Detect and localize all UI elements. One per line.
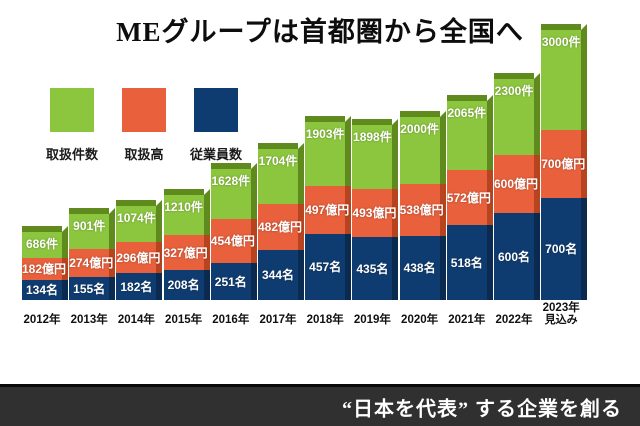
bar-value-label: 134名: [22, 284, 62, 296]
bar-value-label: 454億円: [211, 235, 251, 247]
bar-value-label: 2065件: [447, 107, 487, 119]
bar-3d-side-face: [62, 232, 68, 258]
bar-3d-top-face: [211, 163, 251, 169]
bar-3d-side-face: [345, 122, 351, 186]
bar-value-label: 182名: [116, 281, 156, 293]
bar-value-label: 518名: [447, 257, 487, 269]
stacked-bar[interactable]: 1898件493億円435名: [352, 125, 392, 300]
bar-value-label: 600名: [494, 251, 534, 263]
bar-3d-side-face: [251, 169, 257, 219]
bar-3d-side-face: [204, 195, 210, 235]
stacked-bar[interactable]: 1704件482億円344名: [258, 149, 298, 300]
segment-juugyouinsuu[interactable]: 134名: [22, 280, 62, 300]
segment-torihikidaka[interactable]: 182億円: [22, 258, 62, 280]
bar-3d-side-face: [109, 277, 115, 300]
bar-value-label: 700名: [541, 243, 581, 255]
bar-value-label: 497億円: [305, 204, 345, 216]
segment-torihikidaka[interactable]: 296億円: [116, 242, 156, 273]
bar-group: 3000件700億円700名2023年見込み: [541, 24, 587, 326]
x-axis-label: 2013年: [71, 314, 108, 326]
segment-juugyouinsuu[interactable]: 438名: [400, 236, 440, 300]
bar-3d-side-face: [534, 79, 540, 155]
bar-group: 2000件538億円438名2020年: [400, 111, 446, 326]
bar-3d-top-face: [116, 200, 156, 206]
segment-torihikidaka[interactable]: 327億円: [164, 235, 204, 270]
bar-3d-top-face: [352, 119, 392, 125]
x-axis-label: 2014年: [118, 314, 155, 326]
bar-group: 1898件493億円435名2019年: [352, 119, 398, 326]
bar-3d-top-face: [541, 24, 581, 30]
segment-torihikai-kensuu[interactable]: 3000件: [541, 30, 581, 130]
bar-3d-top-face: [22, 226, 62, 232]
bar-3d-corner: [251, 163, 257, 169]
bar-value-label: 1210件: [164, 201, 204, 213]
segment-torihikai-kensuu[interactable]: 901件: [69, 214, 109, 249]
bar-3d-side-face: [392, 125, 398, 189]
segment-juugyouinsuu[interactable]: 208名: [164, 270, 204, 300]
bar-3d-corner: [62, 226, 68, 232]
stacked-bar[interactable]: 686件182億円134名: [22, 232, 62, 300]
bar-3d-side-face: [581, 30, 587, 130]
bar-3d-corner: [156, 200, 162, 206]
bar-value-label: 2000件: [400, 123, 440, 135]
x-axis-label: 2015年: [165, 314, 202, 326]
bar-3d-side-face: [487, 225, 493, 300]
stacked-bar-chart: 686件182億円134名2012年901件274億円155名2013年1074…: [0, 0, 640, 352]
stacked-bar[interactable]: 1074件296億円182名: [116, 206, 156, 300]
bar-3d-side-face: [487, 101, 493, 170]
x-axis-label: 2019年: [354, 314, 391, 326]
footer-banner-text: “日本を代表” する企業を創る: [342, 392, 622, 421]
bar-value-label: 1898件: [352, 131, 392, 143]
segment-torihikai-kensuu[interactable]: 1903件: [305, 122, 345, 186]
bar-3d-side-face: [298, 149, 304, 204]
bar-3d-corner: [440, 111, 446, 117]
bar-value-label: 438名: [400, 262, 440, 274]
segment-juugyouinsuu[interactable]: 600名: [494, 213, 534, 300]
bar-3d-side-face: [204, 270, 210, 300]
bar-3d-top-face: [69, 208, 109, 214]
bar-3d-side-face: [581, 198, 587, 300]
stacked-bar[interactable]: 2300件600億円600名: [494, 79, 534, 300]
segment-torihikai-kensuu[interactable]: 1074件: [116, 206, 156, 242]
x-axis-label: 2021年: [448, 314, 485, 326]
x-axis-sublabel: 見込み: [543, 314, 580, 326]
segment-torihikidaka[interactable]: 600億円: [494, 155, 534, 213]
segment-torihikidaka[interactable]: 497億円: [305, 186, 345, 234]
bar-value-label: 155名: [69, 283, 109, 295]
x-axis-label: 2018年: [307, 314, 344, 326]
x-axis-label: 2012年: [23, 314, 60, 326]
segment-juugyouinsuu[interactable]: 182名: [116, 273, 156, 300]
bar-3d-corner: [534, 73, 540, 79]
bar-value-label: 1074件: [116, 212, 156, 224]
bar-group: 2300件600億円600名2022年: [494, 73, 540, 326]
segment-torihikidaka[interactable]: 700億円: [541, 130, 581, 198]
bar-value-label: 327億円: [164, 247, 204, 259]
segment-juugyouinsuu[interactable]: 700名: [541, 198, 581, 300]
bar-value-label: 208名: [164, 279, 204, 291]
segment-juugyouinsuu[interactable]: 344名: [258, 250, 298, 300]
bar-group: 686件182億円134名2012年: [22, 226, 68, 326]
segment-juugyouinsuu[interactable]: 457名: [305, 234, 345, 300]
segment-torihikidaka[interactable]: 493億円: [352, 189, 392, 237]
stacked-bar[interactable]: 1628件454億円251名: [211, 169, 251, 300]
stacked-bar[interactable]: 2000件538億円438名: [400, 117, 440, 300]
stacked-bar[interactable]: 2065件572億円518名: [447, 101, 487, 300]
segment-juugyouinsuu[interactable]: 435名: [352, 237, 392, 300]
bar-value-label: 251名: [211, 276, 251, 288]
bar-3d-side-face: [251, 263, 257, 300]
x-axis-label: 2020年: [401, 314, 438, 326]
bar-value-label: 182億円: [22, 263, 62, 275]
bar-group: 1628件454億円251名2016年: [211, 163, 257, 326]
bar-group: 1074件296億円182名2014年: [116, 200, 162, 326]
bar-3d-side-face: [156, 206, 162, 242]
bar-value-label: 482億円: [258, 221, 298, 233]
bar-value-label: 538億円: [400, 204, 440, 216]
bar-3d-top-face: [447, 95, 487, 101]
segment-torihikai-kensuu[interactable]: 1704件: [258, 149, 298, 204]
bar-3d-side-face: [298, 250, 304, 300]
bar-3d-top-face: [400, 111, 440, 117]
bar-3d-top-face: [305, 116, 345, 122]
bar-3d-top-face: [258, 143, 298, 149]
segment-torihikidaka[interactable]: 572億円: [447, 170, 487, 225]
bar-value-label: 493億円: [352, 207, 392, 219]
bar-3d-side-face: [440, 236, 446, 300]
segment-torihikai-kensuu[interactable]: 1898件: [352, 125, 392, 189]
bar-value-label: 1903件: [305, 128, 345, 140]
bar-3d-corner: [392, 119, 398, 125]
bar-3d-top-face: [164, 189, 204, 195]
bar-value-label: 1704件: [258, 155, 298, 167]
bar-3d-side-face: [345, 234, 351, 300]
bar-3d-side-face: [156, 273, 162, 300]
segment-torihikai-kensuu[interactable]: 1210件: [164, 195, 204, 235]
stacked-bar[interactable]: 3000件700億円700名: [541, 30, 581, 300]
slide-root: MEグループは首都圏から全国へ 取扱件数 取扱高 従業員数 686件182億円1…: [0, 0, 640, 426]
bar-value-label: 1628件: [211, 175, 251, 187]
bar-group: 1210件327億円208名2015年: [164, 189, 210, 326]
bar-value-label: 686件: [22, 238, 62, 250]
segment-torihikai-kensuu[interactable]: 686件: [22, 232, 62, 258]
bar-value-label: 700億円: [541, 158, 581, 170]
segment-juugyouinsuu[interactable]: 518名: [447, 225, 487, 300]
x-axis-label: 2023年見込み: [543, 302, 580, 326]
bar-value-label: 600億円: [494, 178, 534, 190]
segment-torihikidaka[interactable]: 454億円: [211, 219, 251, 263]
segment-juugyouinsuu[interactable]: 155名: [69, 277, 109, 300]
bar-value-label: 435名: [352, 263, 392, 275]
bar-value-label: 457名: [305, 261, 345, 273]
bar-3d-side-face: [392, 237, 398, 300]
bar-value-label: 901件: [69, 220, 109, 232]
footer-banner: “日本を代表” する企業を創る: [0, 384, 640, 426]
bar-3d-corner: [109, 208, 115, 214]
x-axis-label: 2017年: [259, 314, 296, 326]
bar-group: 901件274億円155名2013年: [69, 208, 115, 326]
bar-3d-side-face: [534, 213, 540, 300]
bar-3d-corner: [581, 24, 587, 30]
bar-3d-side-face: [440, 117, 446, 184]
stacked-bar[interactable]: 901件274億円155名: [69, 214, 109, 300]
bar-value-label: 3000件: [541, 36, 581, 48]
stacked-bar[interactable]: 1903件497億円457名: [305, 122, 345, 300]
bar-group: 1704件482億円344名2017年: [258, 143, 304, 326]
segment-torihikai-kensuu[interactable]: 2000件: [400, 117, 440, 184]
bar-3d-corner: [298, 143, 304, 149]
bar-3d-corner: [204, 189, 210, 195]
bar-value-label: 296億円: [116, 252, 156, 264]
x-axis-label: 2016年: [212, 314, 249, 326]
bar-group: 1903件497億円457名2018年: [305, 116, 351, 326]
bar-3d-side-face: [109, 214, 115, 249]
bar-value-label: 274億円: [69, 257, 109, 269]
bar-3d-corner: [487, 95, 493, 101]
segment-juugyouinsuu[interactable]: 251名: [211, 263, 251, 300]
segment-torihikidaka[interactable]: 538億円: [400, 184, 440, 236]
segment-torihikai-kensuu[interactable]: 1628件: [211, 169, 251, 219]
bar-3d-corner: [345, 116, 351, 122]
bar-value-label: 572億円: [447, 192, 487, 204]
bar-group: 2065件572億円518名2021年: [447, 95, 493, 326]
segment-torihikai-kensuu[interactable]: 2300件: [494, 79, 534, 155]
x-axis-label: 2022年: [495, 314, 532, 326]
bar-3d-top-face: [494, 73, 534, 79]
segment-torihikai-kensuu[interactable]: 2065件: [447, 101, 487, 170]
segment-torihikidaka[interactable]: 482億円: [258, 204, 298, 250]
stacked-bar[interactable]: 1210件327億円208名: [164, 195, 204, 300]
segment-torihikidaka[interactable]: 274億円: [69, 249, 109, 277]
bar-value-label: 344名: [258, 269, 298, 281]
bar-value-label: 2300件: [494, 85, 534, 97]
bar-3d-side-face: [62, 280, 68, 300]
